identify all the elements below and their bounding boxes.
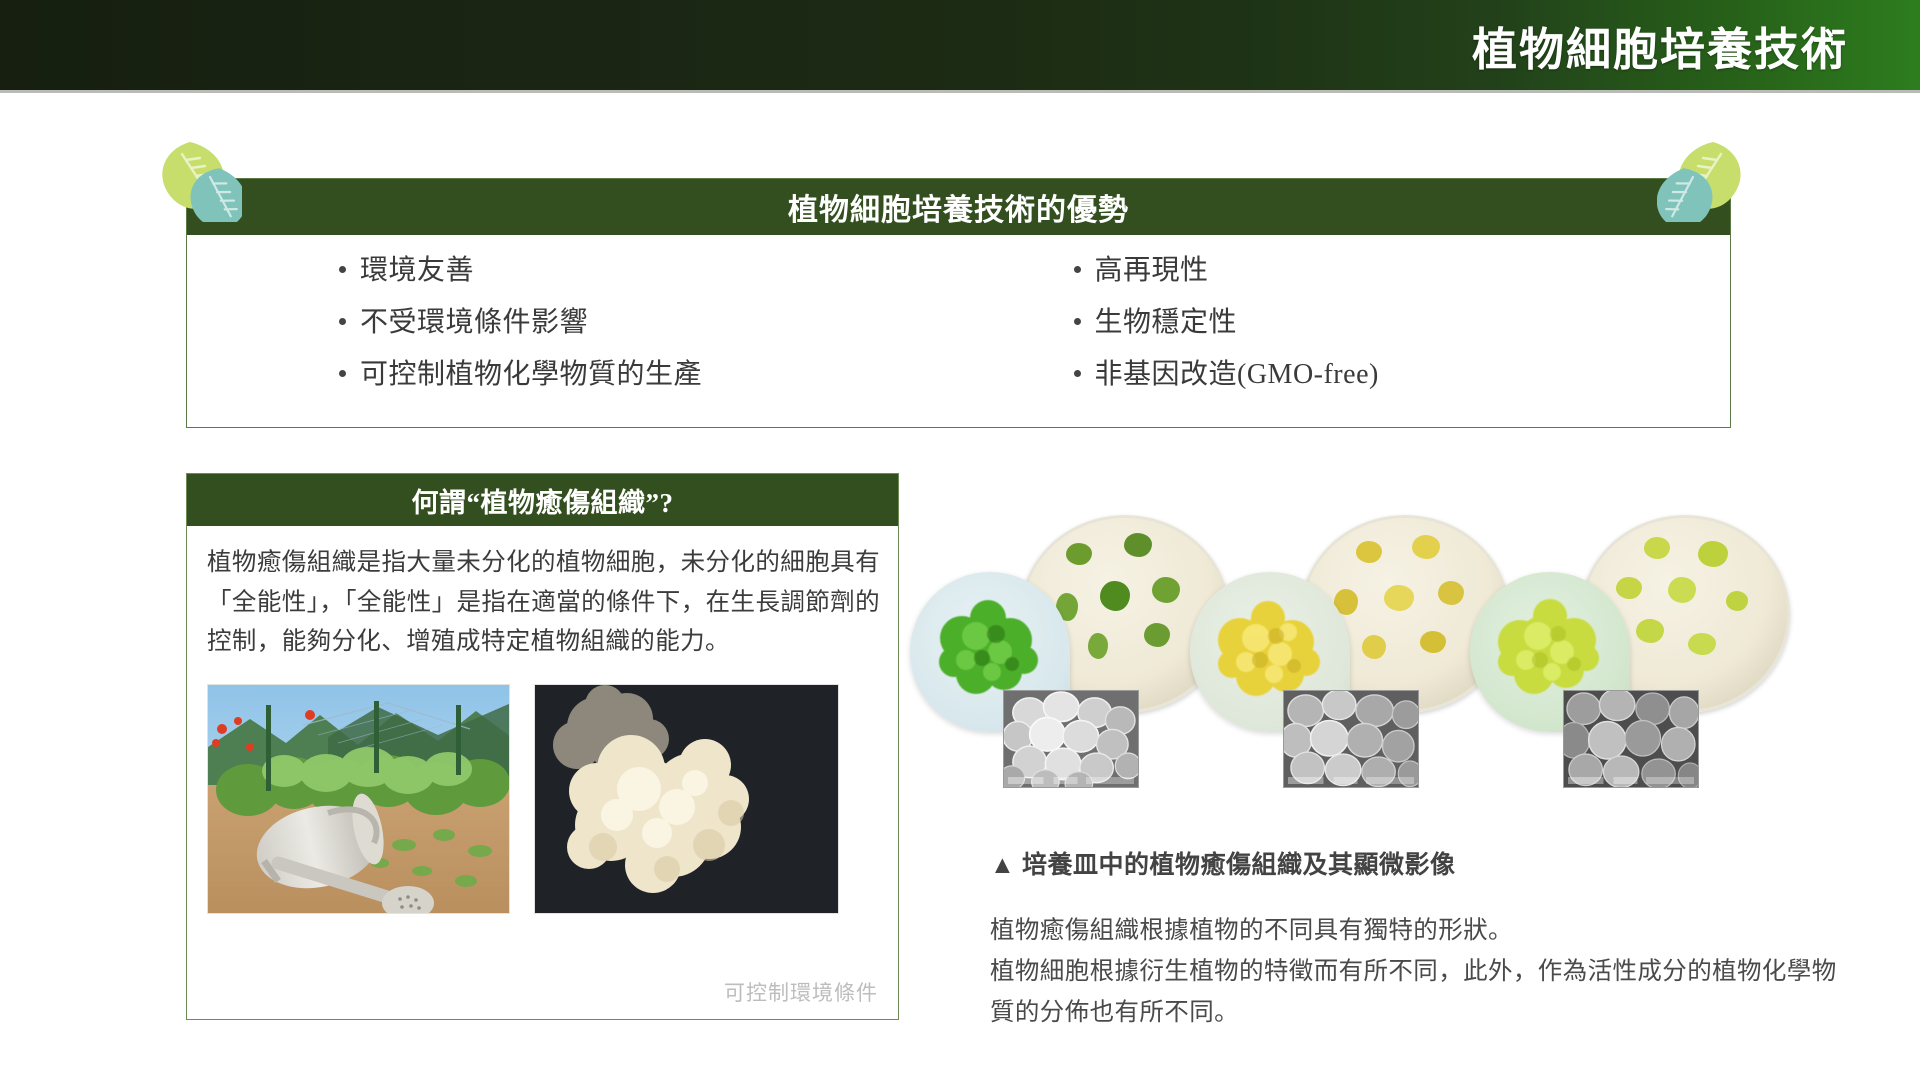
callus-photo: [534, 684, 839, 914]
leaf-decoration-right: [1657, 132, 1757, 222]
sem-image-green: [1003, 690, 1139, 788]
bullet-icon: [339, 266, 346, 273]
advantage-label: 生物穩定性: [1095, 309, 1238, 337]
callus-card-header: 何謂“植物癒傷組織”?: [187, 474, 898, 526]
advantages-column-left: 環境友善 不受環境條件影響 可控制植物化學物質的生產: [187, 257, 996, 428]
callus-card-caption: 可控制環境條件: [724, 977, 878, 1007]
sem-scalebar: [1008, 777, 1134, 784]
sem-image-yellow: [1283, 690, 1419, 788]
bullet-icon: [1074, 370, 1081, 377]
petri-dish-gallery: [910, 500, 1890, 830]
advantages-heading: 植物細胞培養技術的優勢: [788, 185, 1129, 229]
advantage-item: 高再現性: [1074, 257, 1731, 285]
bullet-icon: [339, 318, 346, 325]
dishes-description: 植物癒傷組織根據植物的不同具有獨特的形狀。 植物細胞根據衍生植物的特徵而有所不同…: [990, 910, 1840, 1033]
advantage-item: 非基因改造(GMO-free): [1074, 361, 1731, 389]
page-header-bar: 植物細胞培養技術: [0, 0, 1920, 90]
advantage-item: 生物穩定性: [1074, 309, 1731, 337]
advantage-label: 非基因改造(GMO-free): [1095, 361, 1379, 389]
dishes-description-line2: 植物細胞根據衍生植物的特徵而有所不同，此外，作為活性成分的植物化學物質的分佈也有…: [990, 951, 1840, 1033]
advantage-label: 高再現性: [1095, 257, 1209, 285]
petri-dish-caption: ▲ 培養皿中的植物癒傷組織及其顯微影像: [990, 845, 1456, 881]
dish-group-yellow: [1190, 500, 1500, 820]
advantage-label: 可控制植物化學物質的生產: [360, 361, 702, 389]
dish-group-yellow-green: [1470, 500, 1780, 820]
leaf-decoration-left: [142, 132, 242, 222]
bullet-icon: [339, 370, 346, 377]
callus-closeup-shape: [932, 598, 1044, 704]
dishes-description-line1: 植物癒傷組織根據植物的不同具有獨特的形狀。: [990, 910, 1840, 951]
dish-group-green: [910, 500, 1220, 820]
sem-scalebar: [1288, 777, 1414, 784]
callus-closeup-shape: [1492, 598, 1604, 704]
callus-heading: 何謂“植物癒傷組織”?: [412, 481, 674, 520]
advantage-item: 不受環境條件影響: [339, 309, 996, 337]
sem-scalebar: [1568, 777, 1694, 784]
callus-photo-row: [207, 684, 880, 914]
bullet-icon: [1074, 318, 1081, 325]
advantages-panel-body: 環境友善 不受環境條件影響 可控制植物化學物質的生產 高再現性: [187, 235, 1730, 428]
bullet-icon: [1074, 266, 1081, 273]
callus-definition-card: 何謂“植物癒傷組織”? 植物癒傷組織是指大量未分化的植物細胞，未分化的細胞具有「…: [186, 473, 899, 1020]
advantages-panel-header: 植物細胞培養技術的優勢: [187, 179, 1730, 235]
advantage-label: 不受環境條件影響: [360, 309, 588, 337]
callus-closeup-shape: [1212, 598, 1324, 704]
page-title: 植物細胞培養技術: [1472, 13, 1920, 78]
advantage-item: 可控制植物化學物質的生產: [339, 361, 996, 389]
callus-paragraph: 植物癒傷組織是指大量未分化的植物細胞，未分化的細胞具有「全能性」，「全能性」是指…: [207, 543, 880, 662]
advantage-item: 環境友善: [339, 257, 996, 285]
advantages-panel: 植物細胞培養技術的優勢 環境友善 不受環境條件影響 可控制植物化學物質的生產: [186, 178, 1731, 428]
callus-card-body: 植物癒傷組織是指大量未分化的植物細胞，未分化的細胞具有「全能性」，「全能性」是指…: [187, 526, 898, 1019]
slide-root: 植物細胞培養技術 植物細胞培養技術的優勢 環境友善 不受環境條件影響 可控制植物…: [0, 0, 1920, 1080]
garden-photo: [207, 684, 510, 914]
advantage-label: 環境友善: [360, 257, 474, 285]
sem-image-yellow-green: [1563, 690, 1699, 788]
advantages-column-right: 高再現性 生物穩定性 非基因改造(GMO-free): [996, 257, 1731, 428]
header-divider: [0, 90, 1920, 93]
